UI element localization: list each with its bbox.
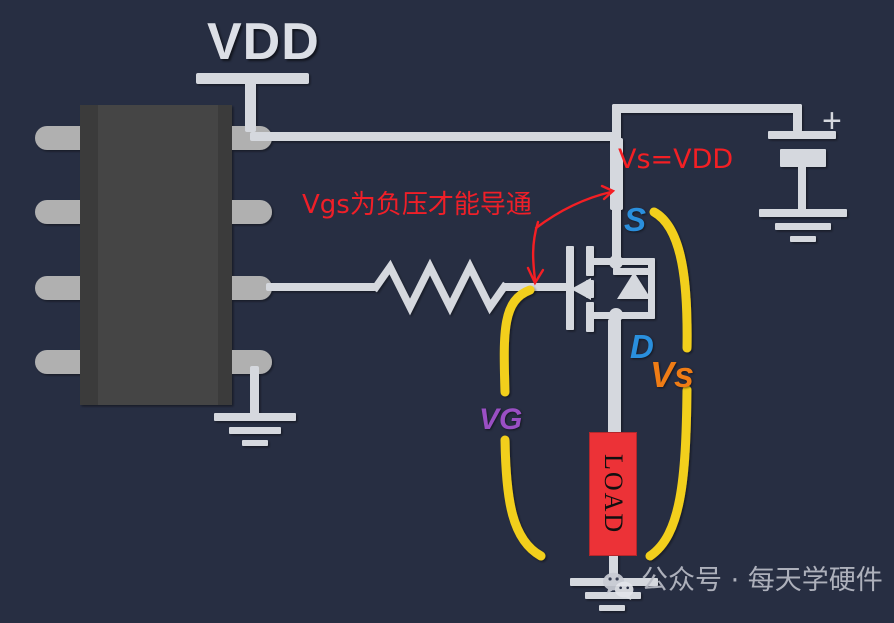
mosfet-gate-bar: [566, 246, 574, 330]
wechat-icon: [600, 571, 636, 601]
annotation-note-vgs: Vgs为负压才能导通: [302, 192, 532, 218]
load-label: LOAD: [590, 433, 636, 555]
arrow-to-gate-line: [533, 222, 538, 280]
bracket-vs-lower: [650, 390, 687, 556]
bracket-label-vg: VG: [479, 405, 522, 435]
body-diode-bar: [613, 268, 655, 275]
bracket-vg-lower: [505, 440, 541, 556]
battery-plus-label: +: [822, 104, 842, 138]
arrow-to-source-line: [536, 192, 611, 228]
body-diode-rail: [648, 258, 655, 319]
ground-battery: [759, 209, 847, 242]
load-component: LOAD: [589, 432, 637, 556]
ic-body-highlight: [98, 105, 218, 405]
vdd-label: VDD: [207, 16, 320, 68]
bracket-label-vs: Vs: [650, 357, 694, 393]
watermark-text: 公众号 · 每天学硬件: [641, 567, 883, 594]
drain-wire: [608, 319, 621, 367]
bracket-vs: [654, 212, 687, 348]
gate-wire-left: [266, 283, 376, 291]
battery: [768, 131, 836, 213]
ic-chip: [35, 105, 272, 405]
gate-resistor: [376, 267, 504, 307]
mosfet-source-label: S: [624, 203, 646, 236]
circuit-diagram-canvas: VDD Vgs为负压才能导通 Vs=VDD S D Vs VG + LOAD 公…: [0, 0, 894, 623]
circuit-artwork: [0, 0, 894, 623]
supply-wire-top: [250, 104, 802, 141]
body-diode-triangle: [617, 272, 651, 299]
bracket-vg: [504, 290, 530, 392]
annotation-vs-equals-vdd: Vs=VDD: [618, 146, 733, 173]
